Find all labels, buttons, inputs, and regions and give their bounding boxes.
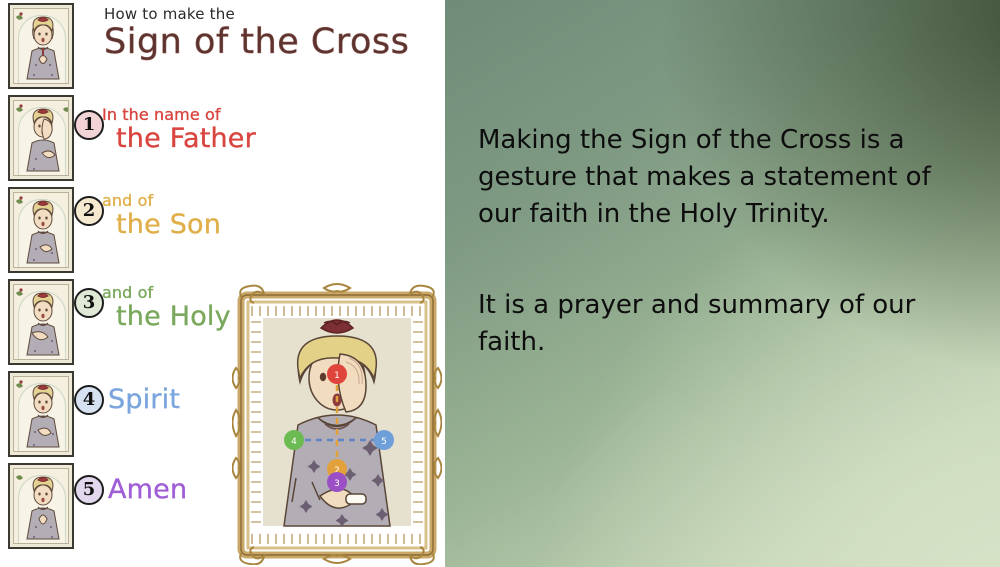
thumbnail-frame: [13, 284, 69, 360]
girl-chest-icon: [14, 193, 69, 268]
poster-panel: How to make the Sign of the Cross 1 In t…: [0, 0, 445, 567]
step-badge-1: 1: [74, 110, 104, 140]
step-big-text: the Father: [102, 124, 377, 154]
girl-forehead-icon: [14, 101, 69, 176]
step-item-2[interactable]: 2 and of the Son: [74, 192, 374, 280]
thumbnail-frame: [13, 468, 69, 544]
content-panel: Making the Sign of the Cross is a gestur…: [445, 0, 1000, 567]
step-item-1[interactable]: 1 In the name of the Father: [74, 106, 374, 194]
girl-praying-icon: [14, 9, 69, 84]
ornate-frame-icon: 1 2 3 4 5: [232, 282, 442, 565]
step-text-2: and of the Son: [102, 192, 377, 241]
thumbnail-item: [8, 95, 74, 181]
step-small-text: and of: [102, 192, 377, 210]
svg-text:3: 3: [334, 479, 340, 489]
step-small-text: In the name of: [102, 106, 377, 124]
poster-heading: How to make the Sign of the Cross: [104, 6, 444, 60]
svg-text:1: 1: [334, 371, 340, 381]
step-text-1: In the name of the Father: [102, 106, 377, 155]
thumbnail-item: [8, 371, 74, 457]
thumbnail-item: [8, 3, 74, 89]
slide-canvas: How to make the Sign of the Cross 1 In t…: [0, 0, 1000, 567]
thumbnail-item: [8, 187, 74, 273]
thumbnail-frame: [13, 192, 69, 268]
thumbnail-frame: [13, 8, 69, 84]
step-badge-4: 4: [74, 385, 104, 415]
girl-left-shoulder-icon: [14, 285, 69, 360]
girl-right-shoulder-icon: [14, 377, 69, 452]
paragraph-1: Making the Sign of the Cross is a gestur…: [478, 122, 978, 233]
paragraph-2: It is a prayer and summary of our faith.: [478, 287, 978, 361]
step-badge-3: 3: [74, 288, 104, 318]
content-copy: Making the Sign of the Cross is a gestur…: [478, 122, 978, 361]
page-title: Sign of the Cross: [104, 24, 444, 61]
svg-text:4: 4: [291, 437, 297, 447]
thumbnail-strip: [8, 3, 76, 549]
framed-illustration: 1 2 3 4 5: [232, 282, 442, 565]
thumbnail-frame: [13, 376, 69, 452]
thumbnail-item: [8, 463, 74, 549]
thumbnail-frame: [13, 100, 69, 176]
poster-kicker: How to make the: [104, 6, 444, 23]
paragraph-spacer: [478, 233, 978, 287]
girl-amen-icon: [14, 469, 69, 544]
thumbnail-item: [8, 279, 74, 365]
step-badge-5: 5: [74, 475, 104, 505]
svg-text:5: 5: [381, 437, 387, 447]
step-badge-2: 2: [74, 196, 104, 226]
step-big-text: the Son: [102, 210, 377, 240]
